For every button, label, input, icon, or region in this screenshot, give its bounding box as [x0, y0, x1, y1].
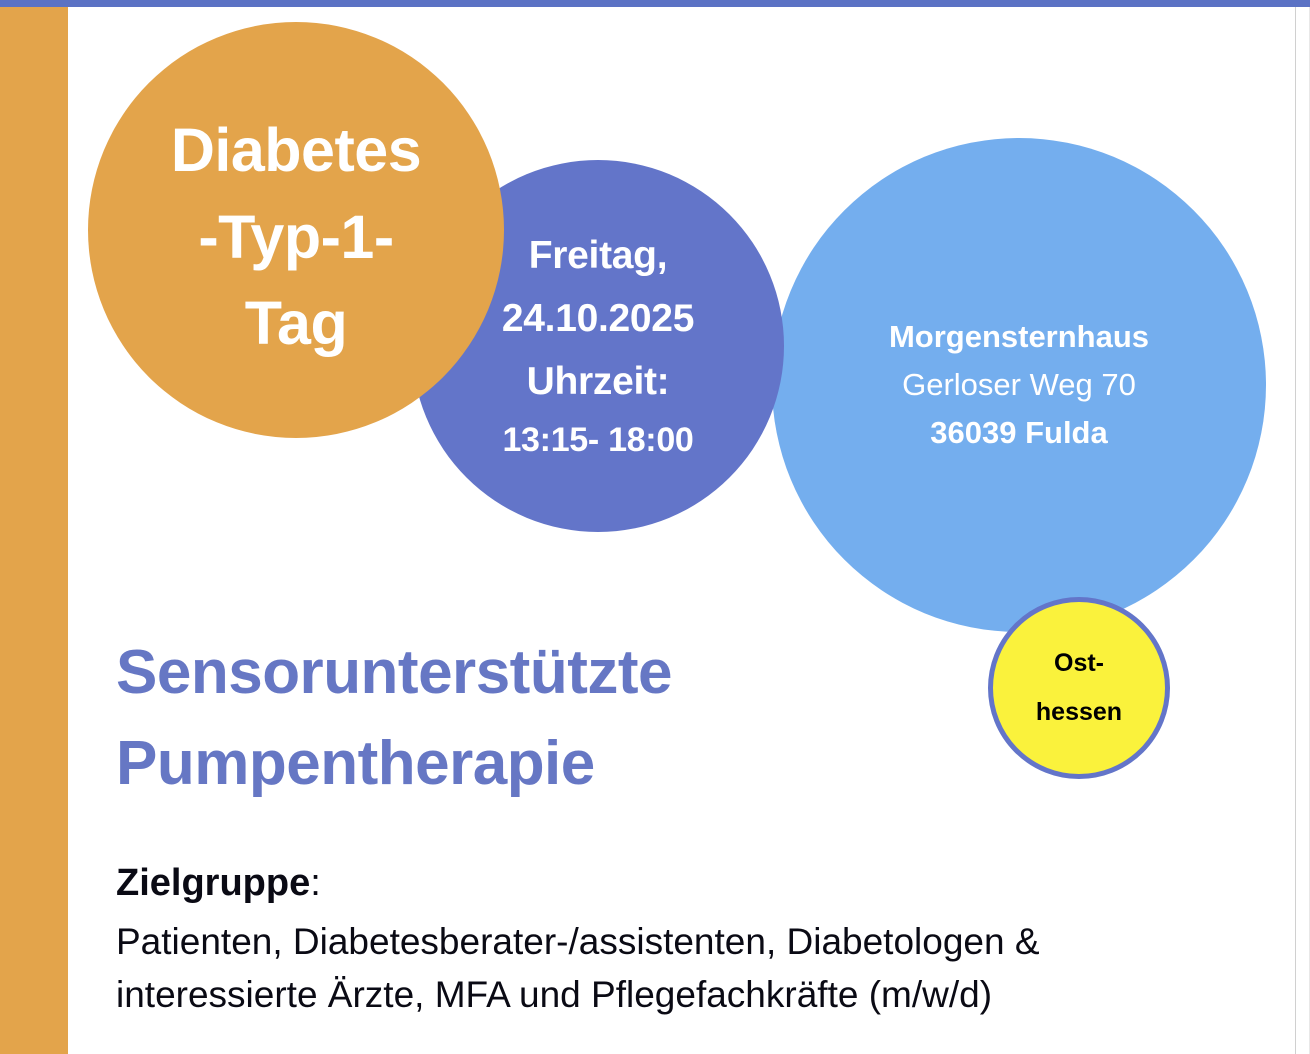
page-title-line-2: Pumpentherapie: [116, 718, 876, 809]
event-title-line-3: Tag: [245, 280, 347, 367]
target-audience-label: Zielgruppe:: [116, 857, 1206, 911]
page-title: Sensorunterstützte Pumpentherapie: [116, 627, 876, 809]
region-badge: Ost- hessen: [988, 597, 1170, 779]
region-line-2: hessen: [1036, 688, 1122, 737]
event-weekday: Freitag,: [529, 224, 667, 287]
venue-street: Gerloser Weg 70: [902, 361, 1136, 409]
event-date: 24.10.2025: [502, 287, 694, 350]
venue-bubble: Morgensternhaus Gerloser Weg 70 36039 Fu…: [772, 138, 1266, 632]
target-audience-label-colon: :: [310, 862, 321, 904]
venue-city: 36039 Fulda: [930, 409, 1107, 457]
top-accent-rule: [0, 0, 1310, 7]
venue-name: Morgensternhaus: [889, 313, 1149, 361]
event-time-label: Uhrzeit:: [527, 350, 670, 413]
target-audience-line-2: interessierte Ärzte, MFA und Pflegefachk…: [116, 968, 1206, 1021]
target-audience-block: Zielgruppe: Patienten, Diabetesberater-/…: [116, 857, 1206, 1021]
target-audience-line-1: Patienten, Diabetesberater-/assistenten,…: [116, 915, 1206, 968]
region-line-1: Ost-: [1054, 639, 1104, 688]
right-edge-rule: [1295, 7, 1296, 1054]
event-time-range: 13:15- 18:00: [502, 413, 693, 468]
poster-page: Diabetes -Typ-1- Tag Freitag, 24.10.2025…: [0, 0, 1310, 1054]
event-title-line-1: Diabetes: [171, 107, 421, 194]
left-orange-band: [0, 7, 68, 1054]
page-title-line-1: Sensorunterstützte: [116, 627, 876, 718]
target-audience-label-text: Zielgruppe: [116, 862, 310, 904]
event-title-bubble: Diabetes -Typ-1- Tag: [88, 22, 504, 438]
event-title-line-2: -Typ-1-: [198, 194, 393, 281]
